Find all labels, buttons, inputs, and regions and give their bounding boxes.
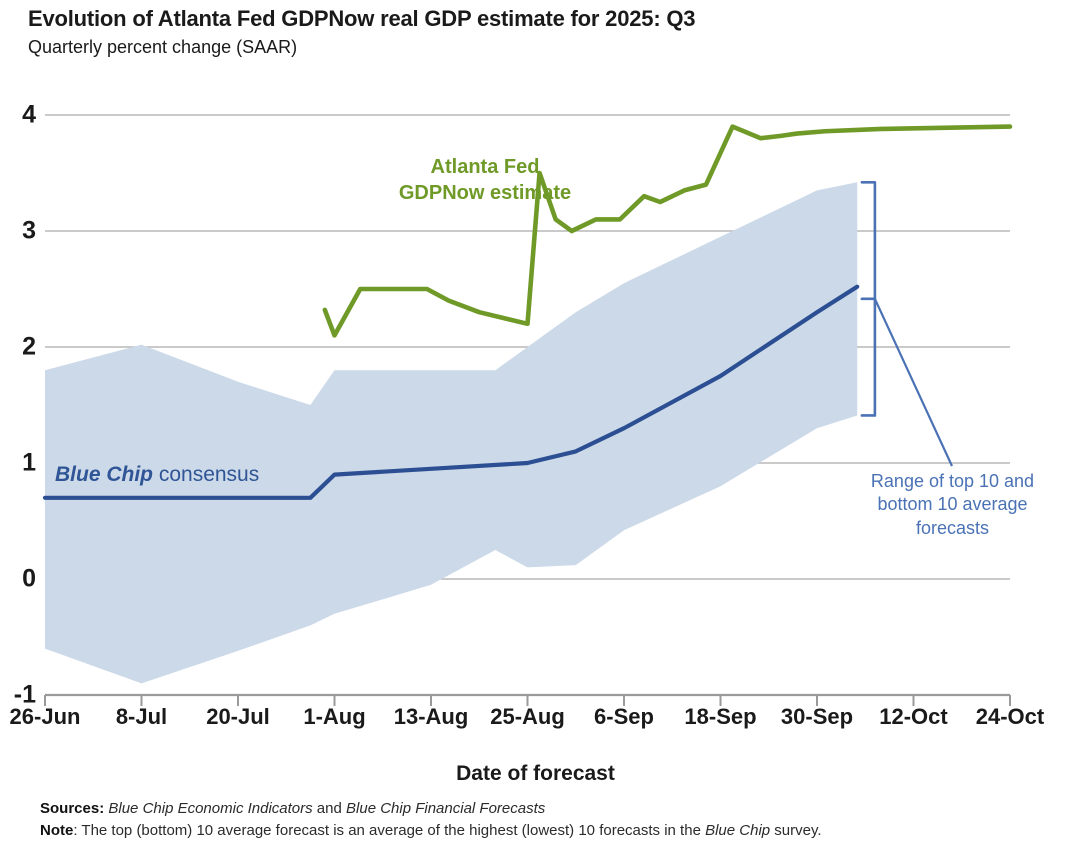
annotation-gdpnow: Atlanta Fed GDPNow estimate xyxy=(370,155,600,206)
range-bracket xyxy=(862,182,952,466)
footer-sources-italic-2: Blue Chip Financial Forecasts xyxy=(346,800,545,817)
annotation-bluechip-consensus: Blue Chip consensus xyxy=(55,464,259,485)
footer-note-text-b: survey. xyxy=(770,822,821,839)
annotation-range-line2: bottom 10 average xyxy=(877,494,1027,514)
footer-sources-label: Sources: xyxy=(40,800,104,817)
gdpnow-chart xyxy=(0,0,1071,760)
annotation-range-line3: forecasts xyxy=(916,518,989,538)
footer-note-label: Note xyxy=(40,822,73,839)
chart-page: Evolution of Atlanta Fed GDPNow real GDP… xyxy=(0,0,1071,865)
annotation-bluechip-italic: Blue Chip xyxy=(55,463,153,486)
x-axis-tick-label: 6-Sep xyxy=(594,706,654,728)
y-axis-tick-label: 2 xyxy=(2,335,36,360)
footer-note: Note: The top (bottom) 10 average foreca… xyxy=(40,820,1050,842)
x-axis-tick-label: 26-Jun xyxy=(10,706,81,728)
footer-notes: Sources: Blue Chip Economic Indicators a… xyxy=(40,798,1050,842)
range-band xyxy=(45,182,857,683)
x-axis-tick-label: 30-Sep xyxy=(781,706,853,728)
annotation-range: Range of top 10 and bottom 10 average fo… xyxy=(845,470,1060,540)
annotation-bluechip-rest: consensus xyxy=(153,463,259,486)
y-axis-tick-label: 4 xyxy=(2,103,36,128)
x-axis-tick-label: 13-Aug xyxy=(394,706,469,728)
x-axis-tick-label: 12-Oct xyxy=(879,706,947,728)
annotation-range-line1: Range of top 10 and xyxy=(871,471,1034,491)
x-axis-title: Date of forecast xyxy=(0,762,1071,786)
x-axis-tick-label: 18-Sep xyxy=(684,706,756,728)
x-axis-tick-label: 8-Jul xyxy=(116,706,167,728)
footer-note-italic: Blue Chip xyxy=(705,822,770,839)
footer-sources-italic-1: Blue Chip Economic Indicators xyxy=(108,800,312,817)
x-axis-tick-label: 24-Oct xyxy=(976,706,1044,728)
annotation-gdpnow-line2: GDPNow estimate xyxy=(399,182,571,204)
footer-note-text-a: : The top (bottom) 10 average forecast i… xyxy=(73,822,705,839)
y-axis-tick-label: 3 xyxy=(2,219,36,244)
footer-sources-and: and xyxy=(313,800,346,817)
y-axis-tick-label: 1 xyxy=(2,451,36,476)
y-axis-tick-label: 0 xyxy=(2,567,36,592)
x-axis-tick-label: 1-Aug xyxy=(303,706,365,728)
x-axis-tick-label: 20-Jul xyxy=(206,706,270,728)
annotation-gdpnow-line1: Atlanta Fed xyxy=(431,156,540,178)
footer-sources: Sources: Blue Chip Economic Indicators a… xyxy=(40,798,1050,820)
x-axis-tick-label: 25-Aug xyxy=(490,706,565,728)
